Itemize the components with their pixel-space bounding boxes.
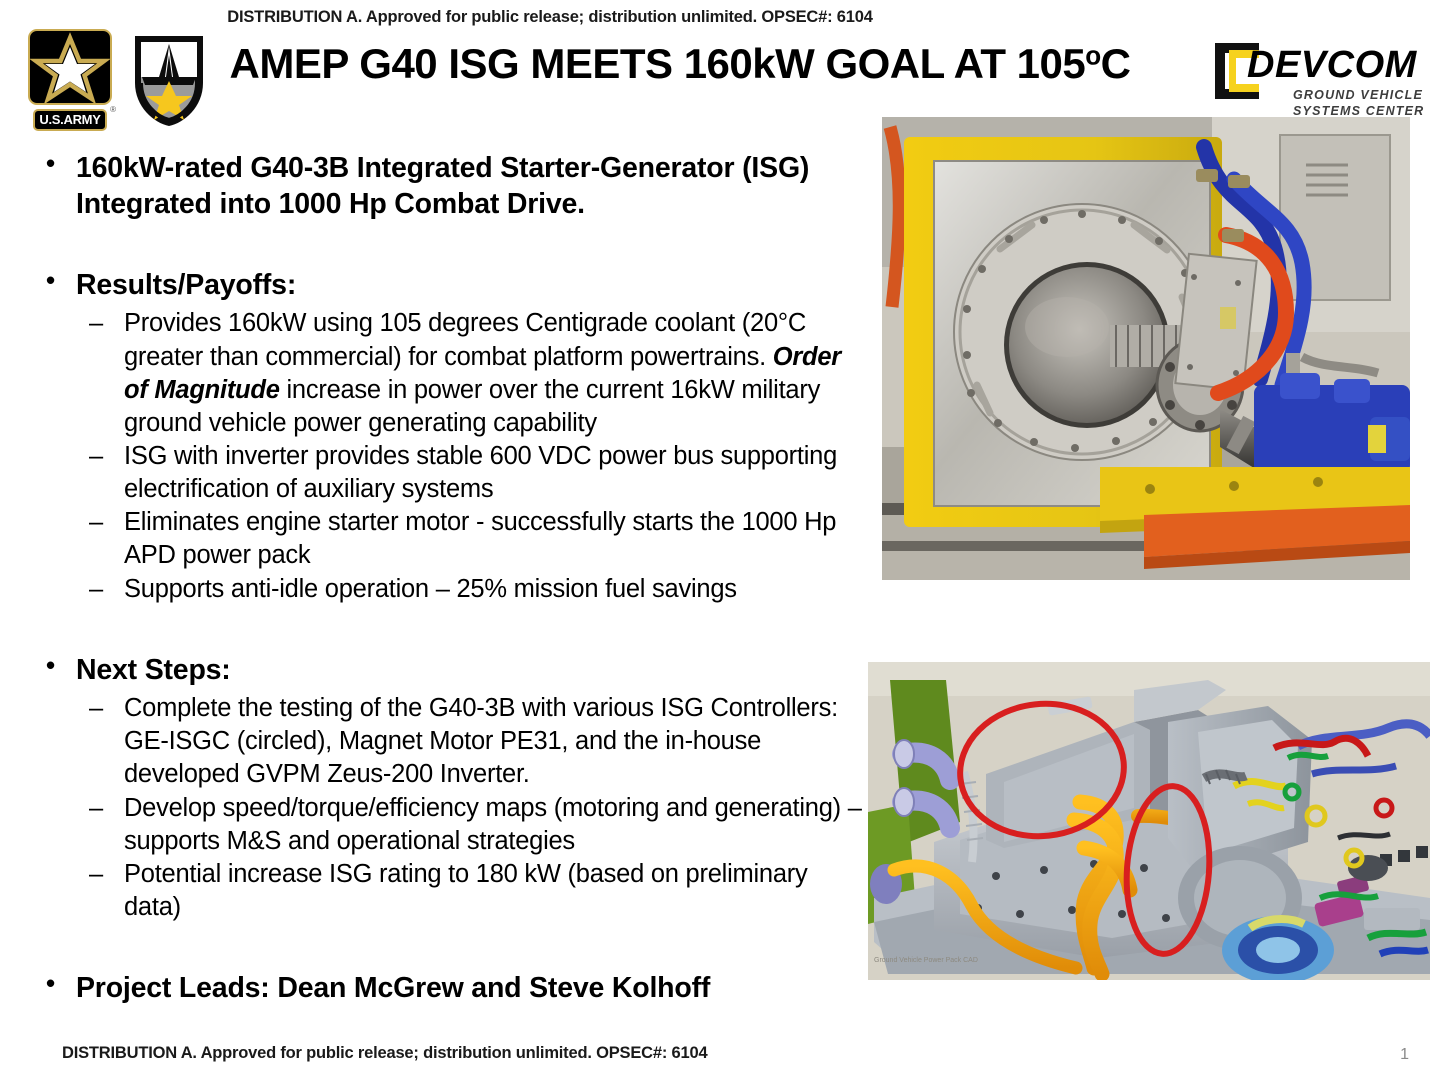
slide-root: DISTRIBUTION A. Approved for public rele…: [0, 0, 1435, 1077]
page-title-main: AMEP G40 ISG MEETS 160kW GOAL AT 105: [230, 40, 1086, 87]
project-leads: Project Leads: Dean McGrew and Steve Kol…: [34, 970, 864, 1006]
slide-body: 160kW-rated G40-3B Integrated Starter-Ge…: [34, 150, 864, 1011]
bullet-intro: 160kW-rated G40-3B Integrated Starter-Ge…: [34, 150, 864, 223]
cad-watermark: Ground Vehicle Power Pack CAD: [874, 957, 978, 964]
degree-symbol: o: [1085, 40, 1100, 70]
results-item-3: Supports anti-idle operation – 25% missi…: [34, 573, 864, 606]
results-item-0: Provides 160kW using 105 degrees Centigr…: [34, 307, 864, 440]
army-registered-mark: ®: [110, 105, 116, 114]
results-item-2: Eliminates engine starter motor - succes…: [34, 506, 864, 572]
devcom-logo: DEVCOM GROUND VEHICLE SYSTEMS CENTER: [1209, 38, 1409, 122]
next-steps-item-1: Develop speed/torque/efficiency maps (mo…: [34, 792, 864, 858]
spacer: [34, 606, 864, 652]
army-wordmark: U.S.ARMY: [33, 109, 107, 131]
next-steps-item-2: Potential increase ISG rating to 180 kW …: [34, 858, 864, 924]
next-steps-item-0: Complete the testing of the G40-3B with …: [34, 692, 864, 791]
results-item-0-pre: Provides 160kW using 105 degrees Centigr…: [124, 309, 806, 370]
page-title: AMEP G40 ISG MEETS 160kW GOAL AT 105oC: [215, 40, 1145, 88]
next-steps-heading: Next Steps:: [34, 652, 864, 688]
devcom-wordmark: DEVCOM: [1247, 44, 1417, 87]
isg-test-stand-image: [882, 117, 1410, 580]
spacer: [34, 227, 864, 267]
gvsc-shield-patch: [132, 33, 206, 129]
results-list: Provides 160kW using 105 degrees Centigr…: [34, 307, 864, 605]
powerpack-cad-render: Ground Vehicle Power Pack CAD: [868, 662, 1430, 980]
header-distribution-notice: DISTRIBUTION A. Approved for public rele…: [0, 8, 1100, 27]
results-heading: Results/Payoffs:: [34, 267, 864, 303]
army-star-icon: [30, 31, 110, 103]
devcom-subtitle-line1: GROUND VEHICLE: [1293, 88, 1423, 102]
gvsc-shield-icon: [132, 33, 206, 129]
us-army-logo: U.S.ARMY ®: [28, 29, 112, 131]
next-steps-list: Complete the testing of the G40-3B with …: [34, 692, 864, 924]
army-star-badge: [28, 29, 112, 105]
footer-distribution-notice: DISTRIBUTION A. Approved for public rele…: [62, 1044, 707, 1063]
isg-test-stand-photo: [882, 117, 1410, 580]
devcom-subtitle-line2: SYSTEMS CENTER: [1293, 104, 1424, 118]
page-number: 1: [1400, 1046, 1409, 1064]
spacer: [34, 924, 864, 970]
page-title-suffix: C: [1101, 40, 1131, 87]
results-item-1: ISG with inverter provides stable 600 VD…: [34, 440, 864, 506]
powerpack-cad-image: Ground Vehicle Power Pack CAD: [868, 662, 1430, 980]
